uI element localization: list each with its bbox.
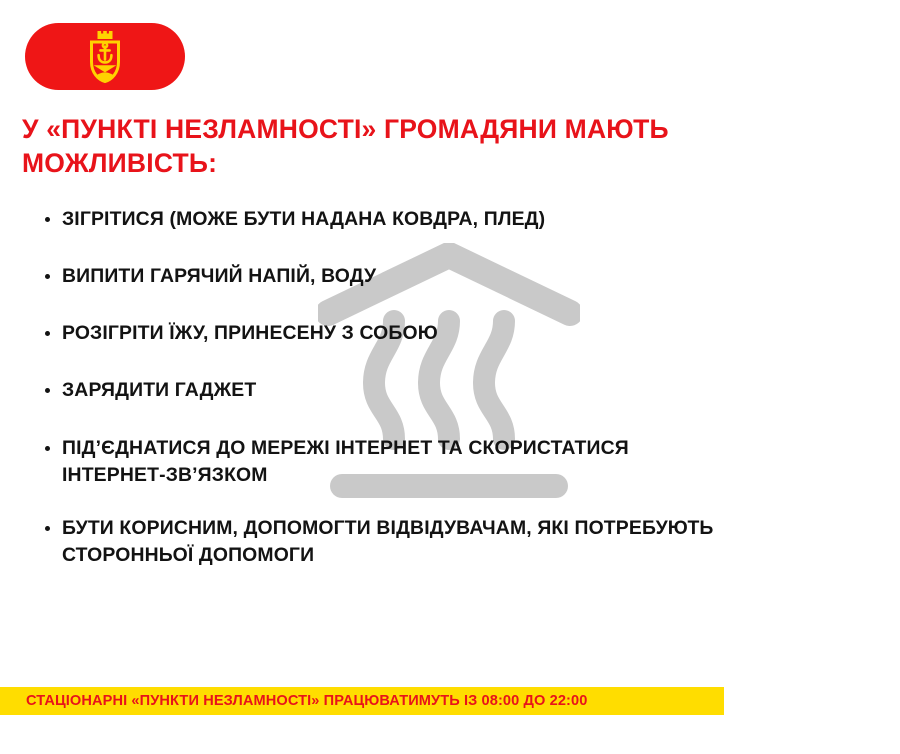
bullet-icon (45, 388, 50, 393)
list-item-line: ВИПИТИ ГАРЯЧИЙ НАПІЙ, ВОДУ (62, 263, 888, 290)
benefits-list: ЗІГРІТИСЯ (МОЖЕ БУТИ НАДАНА КОВДРА, ПЛЕД… (40, 206, 888, 595)
bullet-icon (45, 274, 50, 279)
bullet-icon (45, 446, 50, 451)
list-item: ЗІГРІТИСЯ (МОЖЕ БУТИ НАДАНА КОВДРА, ПЛЕД… (40, 206, 888, 233)
list-item-line: ЗАРЯДИТИ ГАДЖЕТ (62, 377, 888, 404)
footer-schedule-text: СТАЦІОНАРНІ «ПУНКТИ НЕЗЛАМНОСТІ» ПРАЦЮВА… (0, 693, 587, 709)
page-title: У «ПУНКТІ НЕЗЛАМНОСТІ» ГРОМАДЯНИ МАЮТЬ М… (22, 112, 782, 181)
bullet-icon (45, 526, 50, 531)
bullet-icon (45, 217, 50, 222)
list-item-line: ЗІГРІТИСЯ (МОЖЕ БУТИ НАДАНА КОВДРА, ПЛЕД… (62, 206, 888, 233)
list-item: ЗАРЯДИТИ ГАДЖЕТ (40, 377, 888, 404)
bullet-icon (45, 331, 50, 336)
list-item-line: СТОРОННЬОЇ ДОПОМОГИ (62, 542, 888, 569)
list-item-line: ПІД’ЄДНАТИСЯ ДО МЕРЕЖІ ІНТЕРНЕТ ТА СКОРИ… (62, 435, 888, 462)
list-item: ВИПИТИ ГАРЯЧИЙ НАПІЙ, ВОДУ (40, 263, 888, 290)
list-item: ПІД’ЄДНАТИСЯ ДО МЕРЕЖІ ІНТЕРНЕТ ТА СКОРИ… (40, 435, 888, 489)
list-item: БУТИ КОРИСНИМ, ДОПОМОГТИ ВІДВІДУВАЧАМ, Я… (40, 515, 888, 569)
footer-banner: СТАЦІОНАРНІ «ПУНКТИ НЕЗЛАМНОСТІ» ПРАЦЮВА… (0, 687, 724, 715)
city-logo-badge (25, 23, 185, 90)
list-item-line: ІНТЕРНЕТ-ЗВ’ЯЗКОМ (62, 462, 888, 489)
poster-root: У «ПУНКТІ НЕЗЛАМНОСТІ» ГРОМАДЯНИ МАЮТЬ М… (0, 0, 900, 754)
list-item-line: РОЗІГРІТИ ЇЖУ, ПРИНЕСЕНУ З СОБОЮ (62, 320, 888, 347)
list-item-line: БУТИ КОРИСНИМ, ДОПОМОГТИ ВІДВІДУВАЧАМ, Я… (62, 515, 888, 542)
list-item: РОЗІГРІТИ ЇЖУ, ПРИНЕСЕНУ З СОБОЮ (40, 320, 888, 347)
